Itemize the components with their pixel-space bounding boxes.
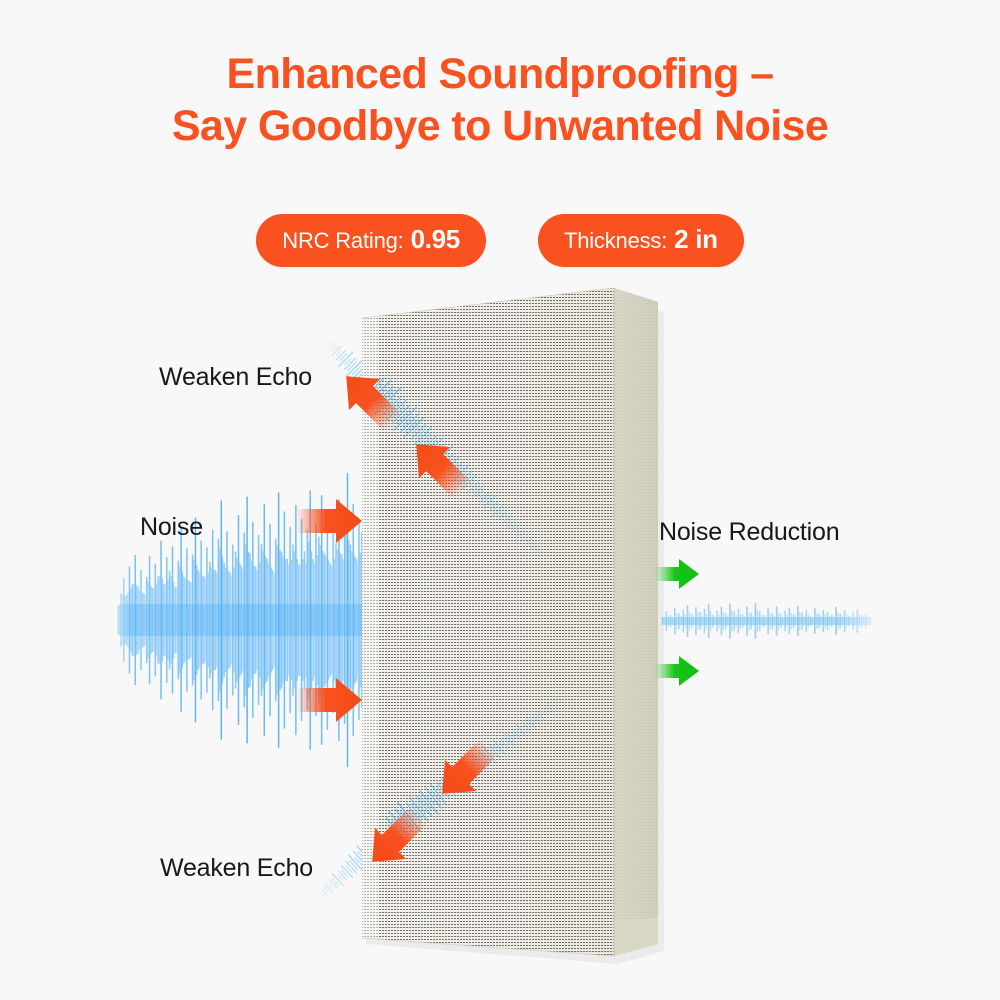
- acoustic-panel-diagram: [0, 0, 1000, 1000]
- infographic-root: Enhanced Soundproofing – Say Goodbye to …: [0, 0, 1000, 1000]
- label-weaken-echo-bottom: Weaken Echo: [160, 854, 313, 883]
- label-noise-reduction: Noise Reduction: [659, 518, 839, 547]
- arrow-right-icon: [296, 499, 362, 543]
- reduced-noise-waveform: [662, 604, 872, 638]
- label-weaken-echo-top: Weaken Echo: [159, 363, 312, 392]
- label-noise: Noise: [140, 513, 203, 542]
- acoustic-panel: [362, 288, 664, 964]
